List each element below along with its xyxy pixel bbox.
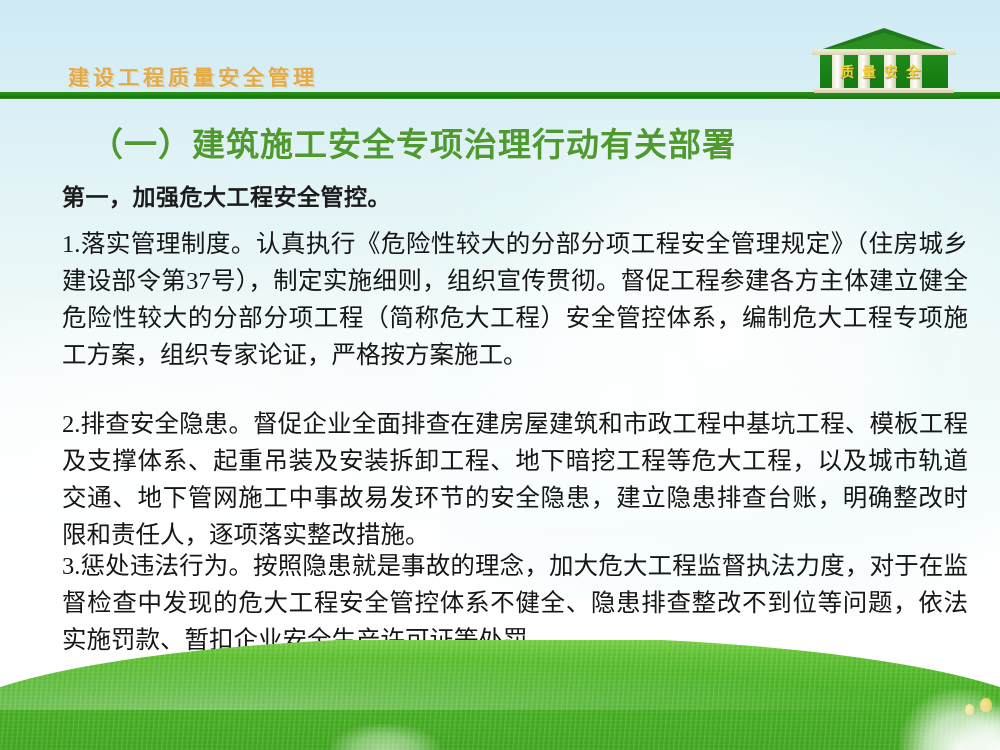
grass-highlight xyxy=(0,650,1000,710)
logo-text: 质量安全 xyxy=(820,62,948,82)
paragraph-1: 1.落实管理制度。认真执行《危险性较大的分部分项工程安全管理规定》（住房城乡建设… xyxy=(62,226,968,374)
slide-lead-statement: 第一，加强危大工程安全管控。 xyxy=(62,178,391,212)
quality-safety-temple-logo: 质量安全 xyxy=(808,28,960,100)
logo-base xyxy=(808,93,960,99)
logo-pediment-highlight xyxy=(830,33,938,49)
presentation-slide: 建设工程质量安全管理 质量安全 （一）建筑施工安全专项治理行动有关部署 第一，加… xyxy=(0,0,1000,750)
mist-patch xyxy=(955,706,1000,750)
header-title: 建设工程质量安全管理 xyxy=(68,62,318,92)
slide-body: （一）建筑施工安全专项治理行动有关部署 第一，加强危大工程安全管控。 1.落实管… xyxy=(0,100,1000,660)
paragraph-2: 2.排查安全隐患。督促企业全面排查在建房屋建筑和市政工程中基坑工程、模板工程及支… xyxy=(62,406,968,554)
slide-header: 建设工程质量安全管理 质量安全 xyxy=(0,0,1000,100)
mist-patch xyxy=(330,724,440,750)
slide-heading: （一）建筑施工安全专项治理行动有关部署 xyxy=(90,118,736,166)
grass-field-decoration xyxy=(0,640,1000,750)
